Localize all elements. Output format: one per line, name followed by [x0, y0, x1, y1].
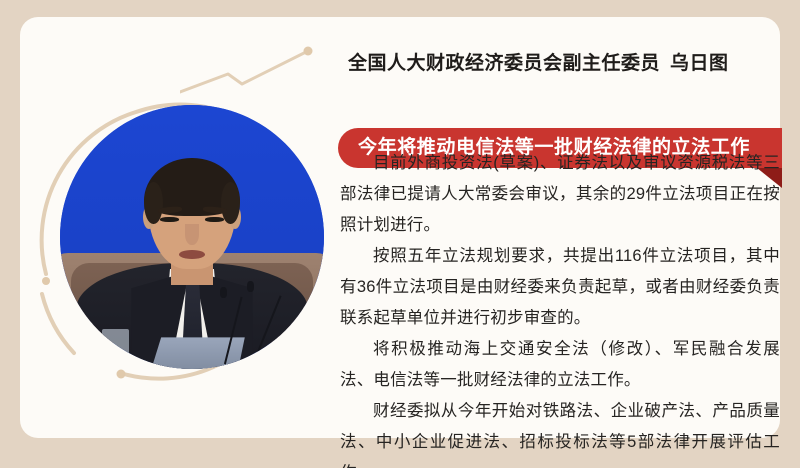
paragraph: 目前外商投资法(草案)、证券法以及审议资源税法等三部法律已提请人大常委会审议，其…	[340, 148, 780, 241]
nose	[185, 224, 198, 245]
paragraph: 将积极推动海上交通安全法（修改）、军民融合发展法、电信法等一批财经法律的立法工作…	[340, 334, 780, 396]
hair-side-right	[221, 182, 239, 224]
speaker-credit: 全国人大财政经济委员会副主任委员乌日图	[348, 48, 778, 78]
microphone-head-2	[247, 281, 254, 292]
paragraph: 财经委拟从今年开始对铁路法、企业破产法、产品质量法、中小企业促进法、招标投标法等…	[340, 396, 780, 468]
paragraph: 按照五年立法规划要求，共提出116件立法项目，其中有36件立法项目是由财经委来负…	[340, 241, 780, 334]
speaker-title: 全国人大财政经济委员会副主任委员	[348, 53, 660, 74]
eye-left	[160, 217, 178, 222]
speaker-name: 乌日图	[670, 53, 729, 74]
poster-canvas: 全国人大财政经济委员会副主任委员乌日图 今年将推动电信法等一批财经法律的立法工作…	[0, 0, 800, 468]
microphone-head-1	[220, 287, 227, 298]
portrait-cluster	[28, 78, 328, 396]
article-body: 目前外商投资法(草案)、证券法以及审议资源税法等三部法律已提请人大常委会审议，其…	[340, 148, 780, 468]
eye-right	[205, 217, 223, 222]
water-glass	[102, 329, 128, 363]
speaker-portrait-photo	[60, 105, 324, 369]
